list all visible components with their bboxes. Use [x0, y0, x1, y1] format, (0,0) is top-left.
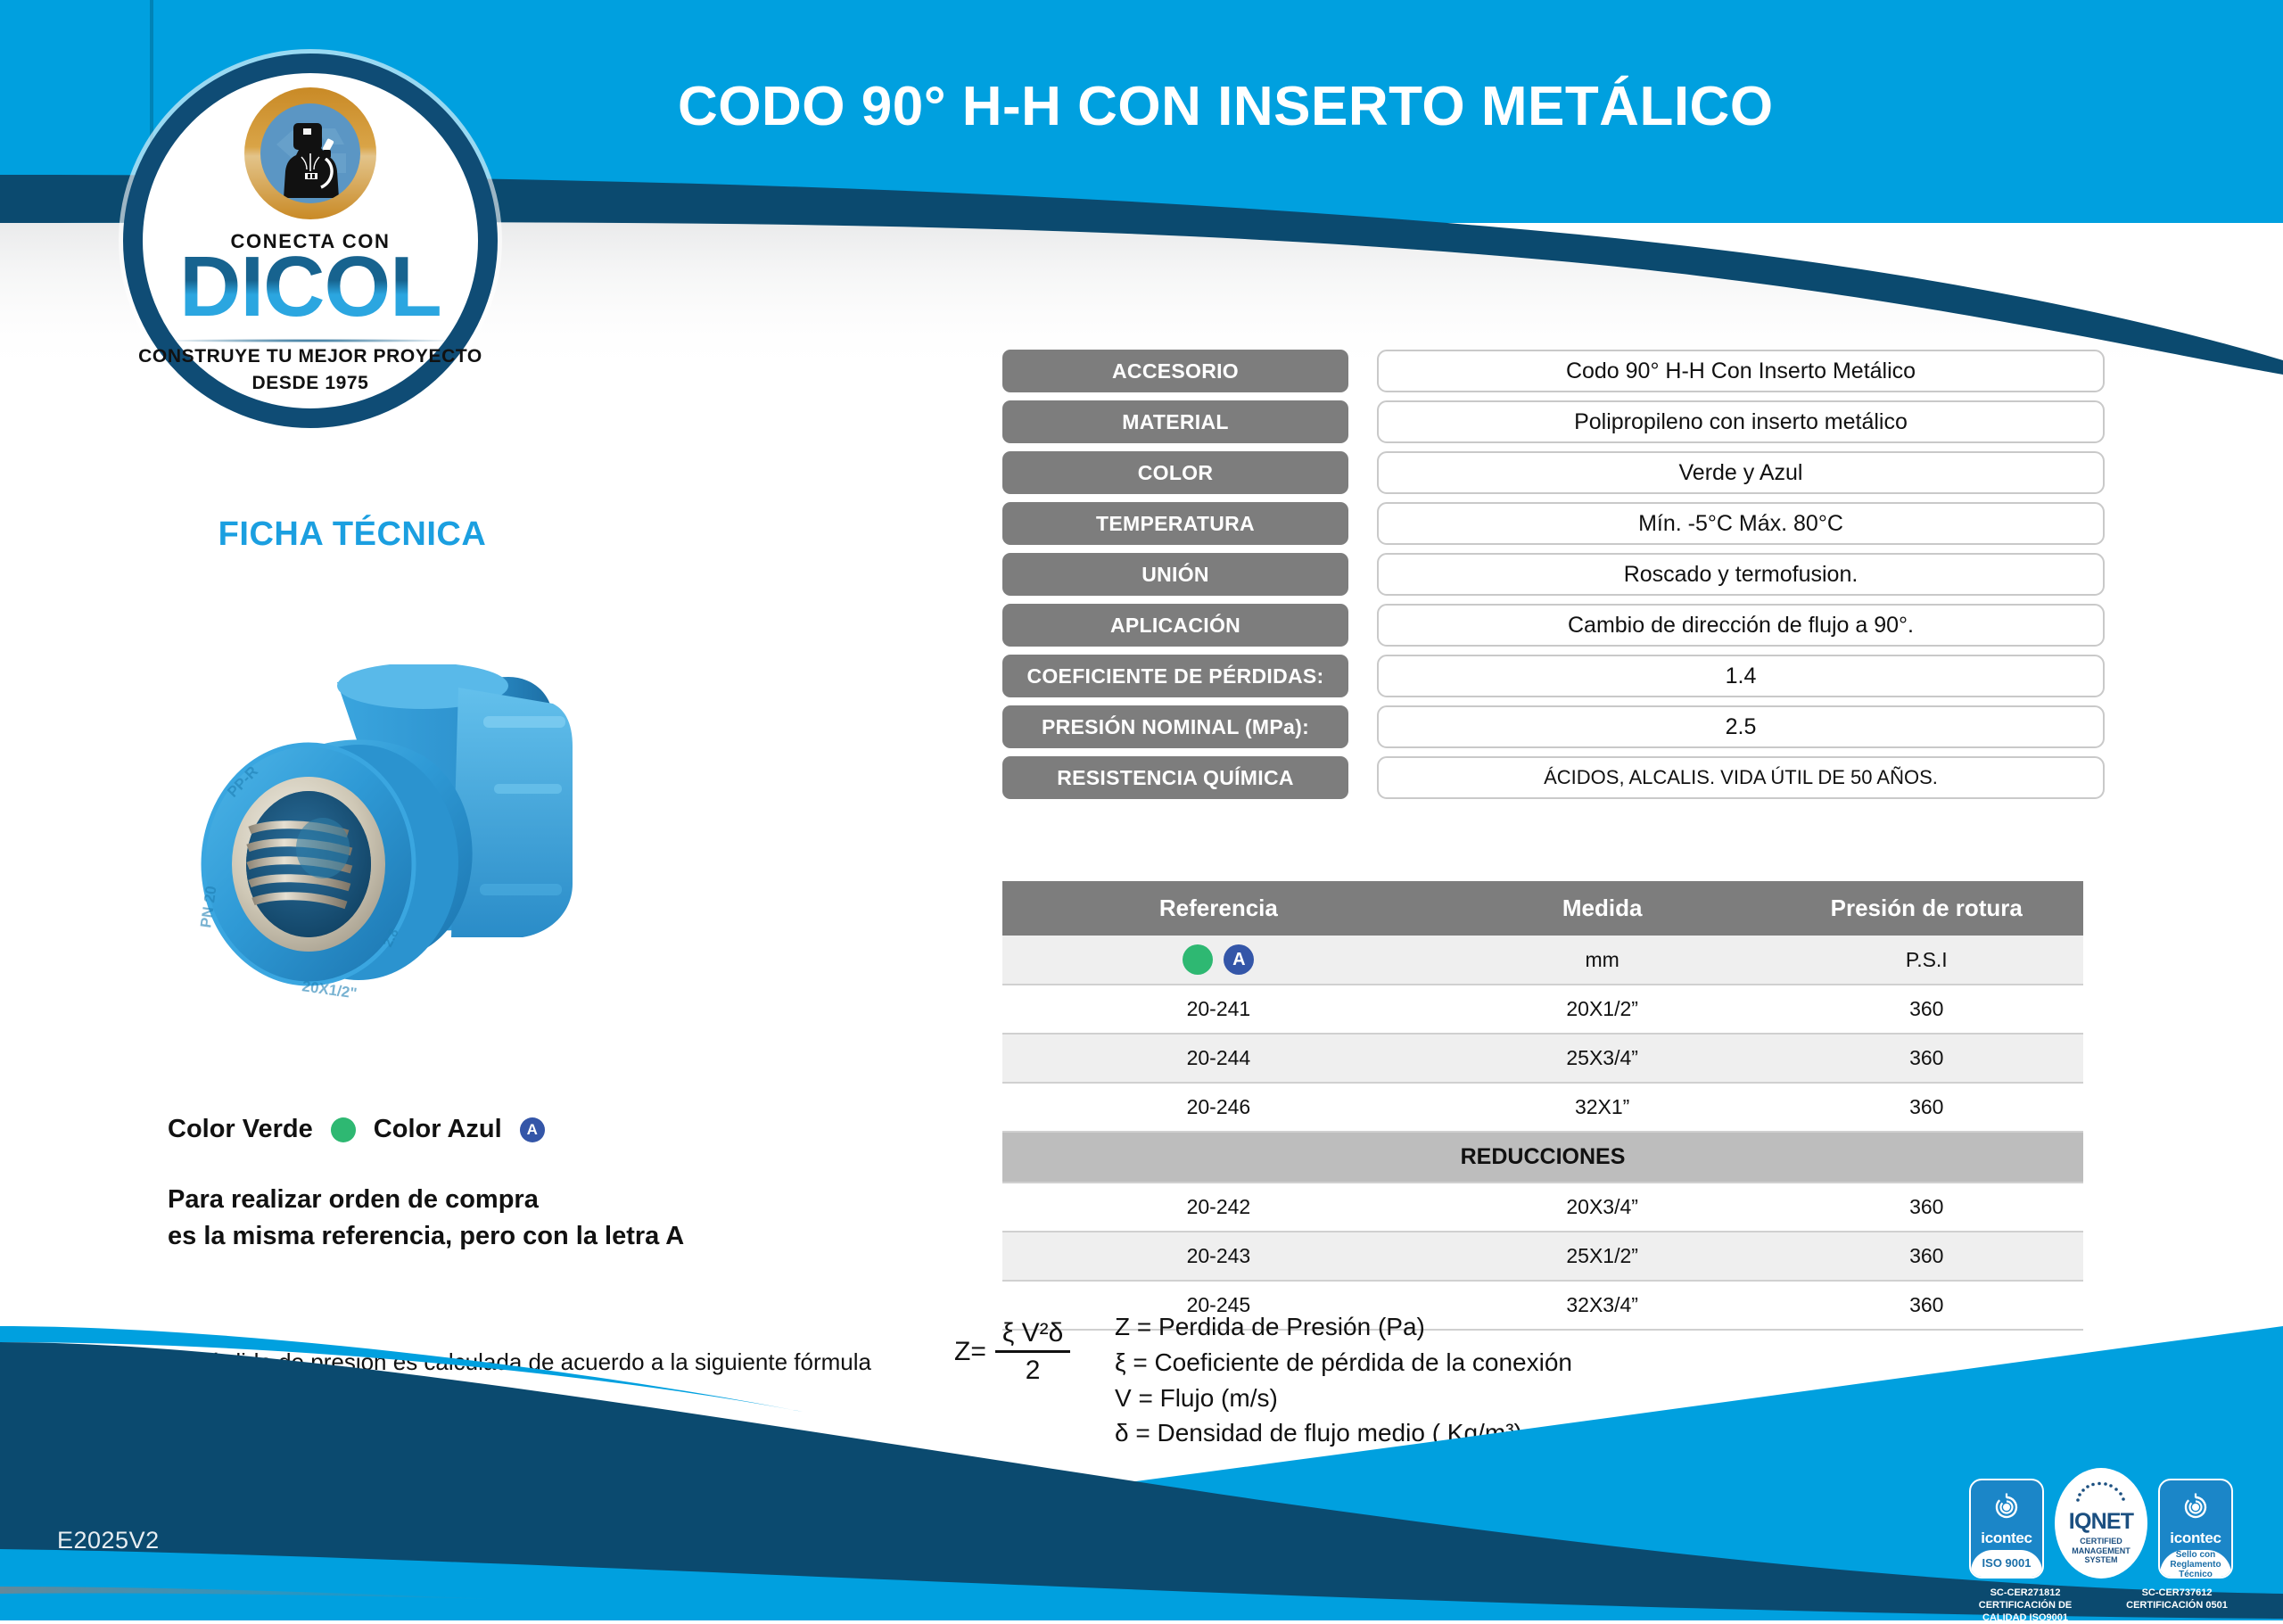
spec-row: UNIÓN Roscado y termofusion. — [1002, 553, 2105, 596]
table-row: 20-246 32X1” 360 — [1002, 1083, 2083, 1132]
spec-row: APLICACIÓN Cambio de dirección de flujo … — [1002, 604, 2105, 647]
reglamento-tecnico-label: Sello con Reglamento Técnico — [2160, 1550, 2231, 1579]
datasheet-page: CODO 90° H-H CON INSERTO METÁLICO — [0, 0, 2283, 1620]
spec-value: 1.4 — [1377, 655, 2105, 697]
cell-presion: 360 — [1770, 1034, 2083, 1083]
icontec-wordmark: icontec — [2170, 1529, 2221, 1547]
spec-label: APLICACIÓN — [1002, 604, 1348, 647]
spec-row: PRESIÓN NOMINAL (MPa): 2.5 — [1002, 705, 2105, 748]
blue-color-dot-icon: A — [1224, 944, 1254, 975]
spec-value: Codo 90° H-H Con Inserto Metálico — [1377, 350, 2105, 392]
spec-value: 2.5 — [1377, 705, 2105, 748]
cell-referencia: 20-244 — [1002, 1034, 1435, 1083]
order-note: Para realizar orden de compra es la mism… — [168, 1182, 684, 1255]
table-row: 20-241 20X1/2” 360 — [1002, 985, 2083, 1034]
iqnet-subtitle: CERTIFIED MANAGEMENT SYSTEM — [2055, 1537, 2147, 1565]
column-header-presion: Presión de rotura — [1770, 881, 2083, 936]
iqnet-arc-icon — [2073, 1481, 2130, 1509]
icontec-reglamento-badge: icontec Sello con Reglamento Técnico — [2158, 1479, 2233, 1579]
cell-medida: 20X3/4” — [1435, 1183, 1770, 1232]
spec-label: TEMPERATURA — [1002, 502, 1348, 545]
table-row: 20-243 25X1/2” 360 — [1002, 1232, 2083, 1281]
color-green-label: Color Verde — [168, 1115, 313, 1144]
cell-referencia: 20-243 — [1002, 1232, 1435, 1281]
color-blue-label: Color Azul — [374, 1115, 502, 1144]
color-badges-cell: A — [1002, 936, 1435, 985]
cell-referencia: 20-242 — [1002, 1183, 1435, 1232]
spec-row: ACCESORIO Codo 90° H-H Con Inserto Metál… — [1002, 350, 2105, 392]
spec-value: ÁCIDOS, ALCALIS. VIDA ÚTIL DE 50 AÑOS. — [1377, 756, 2105, 799]
green-color-dot-icon — [1183, 944, 1213, 975]
cell-medida: 25X1/2” — [1435, 1232, 1770, 1281]
unit-medida: mm — [1435, 936, 1770, 985]
spec-label: COEFICIENTE DE PÉRDIDAS: — [1002, 655, 1348, 697]
section-label: REDUCCIONES — [1002, 1132, 2083, 1183]
icontec-target-icon — [2180, 1491, 2212, 1528]
order-note-line-1: Para realizar orden de compra — [168, 1182, 684, 1218]
icontec-iso9001-badge: icontec ISO 9001 — [1969, 1479, 2044, 1579]
certification-caption: SC-CER737612 CERTIFICACIÓN 0501 — [2110, 1587, 2244, 1624]
cell-referencia: 20-246 — [1002, 1083, 1435, 1132]
spec-value: Polipropileno con inserto metálico — [1377, 400, 2105, 443]
cell-presion: 360 — [1770, 1281, 2083, 1330]
sheet-type-label: FICHA TÉCNICA — [0, 515, 705, 554]
table-header-row: Referencia Medida Presión de rotura — [1002, 881, 2083, 936]
spec-label: UNIÓN — [1002, 553, 1348, 596]
spec-row: MATERIAL Polipropileno con inserto metál… — [1002, 400, 2105, 443]
spec-row: COLOR Verde y Azul — [1002, 451, 2105, 494]
section-header-reducciones: REDUCCIONES — [1002, 1132, 2083, 1183]
spec-label: COLOR — [1002, 451, 1348, 494]
table-row: 20-244 25X3/4” 360 — [1002, 1034, 2083, 1083]
specifications-table: ACCESORIO Codo 90° H-H Con Inserto Metál… — [1002, 350, 2105, 807]
logo-tagline-1: CONSTRUYE TU MEJOR PROYECTO — [123, 346, 498, 367]
certification-captions: SC-CER271812 CERTIFICACIÓN DE CALIDAD IS… — [1958, 1587, 2244, 1624]
spec-row: RESISTENCIA QUÍMICA ÁCIDOS, ALCALIS. VID… — [1002, 756, 2105, 799]
welder-figure-icon — [269, 118, 351, 203]
certification-badges: icontec ISO 9001 — [1958, 1468, 2244, 1579]
document-code: E2025V2 — [57, 1527, 160, 1554]
cell-medida: 25X3/4” — [1435, 1034, 1770, 1083]
logo-emblem-ring — [244, 87, 376, 219]
spec-label: MATERIAL — [1002, 400, 1348, 443]
certification-caption: SC-CER271812 CERTIFICACIÓN DE CALIDAD IS… — [1958, 1587, 2092, 1624]
table-row: 20-242 20X3/4” 360 — [1002, 1183, 2083, 1232]
icontec-target-icon — [1990, 1491, 2023, 1528]
spec-value: Cambio de dirección de flujo a 90°. — [1377, 604, 2105, 647]
iso-standard-label: ISO 9001 — [1971, 1550, 2042, 1577]
product-image-elbow: PP-R PN 20 20X1/2" 2.8 — [134, 664, 669, 1066]
logo-brand: DICOL — [123, 243, 498, 333]
spec-value: Roscado y termofusion. — [1377, 553, 2105, 596]
units-row: A mm P.S.I — [1002, 936, 2083, 985]
cell-presion: 360 — [1770, 1232, 2083, 1281]
order-note-line-2: es la misma referencia, pero con la letr… — [168, 1218, 684, 1255]
green-color-dot-icon — [331, 1117, 356, 1142]
unit-presion: P.S.I — [1770, 936, 2083, 985]
logo-tagline-2: DESDE 1975 — [123, 373, 498, 394]
welder-icon — [260, 103, 360, 203]
cell-presion: 360 — [1770, 1183, 2083, 1232]
cell-referencia: 20-241 — [1002, 985, 1435, 1034]
spec-value: Mín. -5°C Máx. 80°C — [1377, 502, 2105, 545]
cell-presion: 360 — [1770, 985, 2083, 1034]
column-header-referencia: Referencia — [1002, 881, 1435, 936]
spec-label: ACCESORIO — [1002, 350, 1348, 392]
iqnet-badge: IQNET CERTIFIED MANAGEMENT SYSTEM — [2055, 1468, 2147, 1579]
icontec-wordmark: icontec — [1981, 1529, 2032, 1547]
spec-label: PRESIÓN NOMINAL (MPa): — [1002, 705, 1348, 748]
logo-divider — [175, 339, 446, 342]
color-legend: Color Verde Color Azul A — [168, 1115, 545, 1144]
cell-medida: 20X1/2” — [1435, 985, 1770, 1034]
footer-wave-decoration — [0, 1326, 2283, 1620]
spec-value: Verde y Azul — [1377, 451, 2105, 494]
spec-label: RESISTENCIA QUÍMICA — [1002, 756, 1348, 799]
dicol-logo: CONECTA CON DICOL CONSTRUYE TU MEJOR PRO… — [123, 54, 498, 428]
cell-presion: 360 — [1770, 1083, 2083, 1132]
page-title: CODO 90° H-H CON INSERTO METÁLICO — [678, 75, 2194, 138]
svg-text:20X1/2": 20X1/2" — [301, 977, 358, 1002]
spec-row: COEFICIENTE DE PÉRDIDAS: 1.4 — [1002, 655, 2105, 697]
cell-medida: 32X1” — [1435, 1083, 1770, 1132]
blue-color-dot-icon: A — [520, 1117, 545, 1142]
iqnet-wordmark: IQNET — [2069, 1509, 2133, 1535]
reference-table: Referencia Medida Presión de rotura A mm… — [1002, 881, 2083, 1331]
column-header-medida: Medida — [1435, 881, 1770, 936]
spec-row: TEMPERATURA Mín. -5°C Máx. 80°C — [1002, 502, 2105, 545]
certifications-block: icontec ISO 9001 — [1958, 1468, 2244, 1624]
